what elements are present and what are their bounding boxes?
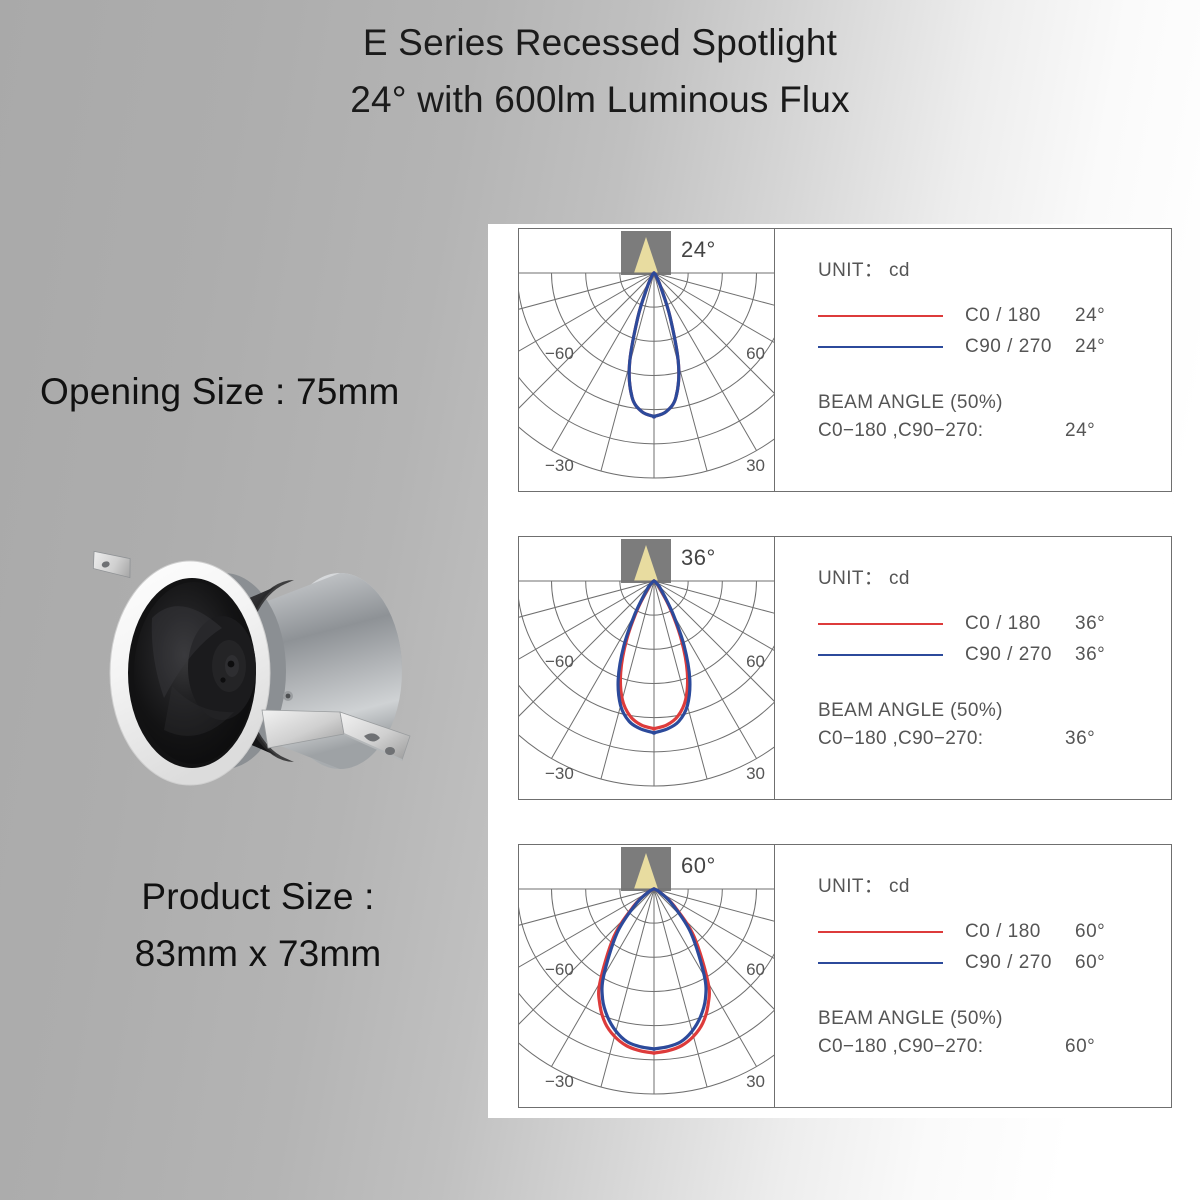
svg-text:−60: −60 bbox=[545, 960, 574, 979]
beam-angle-key: C0−180 ,C90−270: bbox=[818, 420, 1065, 442]
beam-angle-value: 36° bbox=[1065, 728, 1095, 750]
legend-row-c90: C90 / 270 24° bbox=[818, 331, 1161, 362]
legend-row-c0: C0 / 180 24° bbox=[818, 300, 1161, 331]
svg-text:60: 60 bbox=[746, 652, 765, 671]
c0-label: C0 / 180 bbox=[965, 921, 1075, 943]
beam-angle-title: BEAM ANGLE (50%) bbox=[818, 392, 1161, 414]
beam-angle-block: BEAM ANGLE (50%) C0−180 ,C90−270: 24° bbox=[818, 392, 1161, 442]
c0-line-swatch bbox=[818, 315, 943, 317]
legend-row-c0: C0 / 180 60° bbox=[818, 916, 1161, 947]
body-screw bbox=[283, 691, 293, 701]
c90-angle-value: 24° bbox=[1075, 336, 1105, 358]
polar-chart-cell: 60° −6060−3030 bbox=[519, 845, 774, 1107]
svg-text:−60: −60 bbox=[545, 652, 574, 671]
unit-label: UNIT： cd bbox=[818, 871, 1161, 898]
legend-row-c90: C90 / 270 36° bbox=[818, 639, 1161, 670]
legend-row-c0: C0 / 180 36° bbox=[818, 608, 1161, 639]
svg-text:−30: −30 bbox=[545, 1072, 574, 1091]
svg-text:30: 30 bbox=[746, 456, 765, 475]
svg-text:30: 30 bbox=[746, 1072, 765, 1091]
product-size-label: Product Size : 83mm x 73mm bbox=[88, 868, 428, 983]
title-line-1: E Series Recessed Spotlight bbox=[0, 14, 1200, 71]
c0-label: C0 / 180 bbox=[965, 613, 1075, 635]
unit-label: UNIT： cd bbox=[818, 563, 1161, 590]
c0-angle-value: 24° bbox=[1075, 305, 1105, 327]
legend-row-c90: C90 / 270 60° bbox=[818, 947, 1161, 978]
product-size-title: Product Size : bbox=[88, 868, 428, 925]
c0-angle-value: 36° bbox=[1075, 613, 1105, 635]
c0-line-swatch bbox=[818, 931, 943, 933]
polar-plot: −6060−3030 bbox=[519, 845, 774, 1107]
c90-line-swatch bbox=[818, 654, 943, 656]
beam-angle-title: BEAM ANGLE (50%) bbox=[818, 1008, 1161, 1030]
c90-angle-value: 60° bbox=[1075, 952, 1105, 974]
title-line-2: 24° with 600lm Luminous Flux bbox=[0, 71, 1200, 128]
c90-angle-value: 36° bbox=[1075, 644, 1105, 666]
unit-label: UNIT： cd bbox=[818, 255, 1161, 282]
spring-clip-rear bbox=[88, 541, 135, 587]
page-root: E Series Recessed Spotlight 24° with 600… bbox=[0, 0, 1200, 1200]
beam-angle-title: BEAM ANGLE (50%) bbox=[818, 700, 1161, 722]
beam-angle-value: 24° bbox=[1065, 420, 1095, 442]
photometric-panel: 36° −6060−3030 UNIT： cd C0 / 180 36° C90… bbox=[518, 536, 1172, 800]
opening-size-label: Opening Size : 75mm bbox=[40, 371, 400, 413]
photometric-panel: 24° −6060−3030 UNIT： cd C0 / 180 24° C90… bbox=[518, 228, 1172, 492]
polar-plot: −6060−3030 bbox=[519, 229, 774, 491]
polar-plot: −6060−3030 bbox=[519, 537, 774, 799]
polar-chart-cell: 36° −6060−3030 bbox=[519, 537, 774, 799]
svg-text:−30: −30 bbox=[545, 456, 574, 475]
c90-line-swatch bbox=[818, 962, 943, 964]
beam-angle-value: 60° bbox=[1065, 1036, 1095, 1058]
c90-label: C90 / 270 bbox=[965, 952, 1075, 974]
polar-chart-cell: 24° −6060−3030 bbox=[519, 229, 774, 491]
svg-text:30: 30 bbox=[746, 764, 765, 783]
c90-label: C90 / 270 bbox=[965, 336, 1075, 358]
photometric-panel: 60° −6060−3030 UNIT： cd C0 / 180 60° C90… bbox=[518, 844, 1172, 1108]
photometric-card: 24° −6060−3030 UNIT： cd C0 / 180 24° C90… bbox=[488, 224, 1172, 1118]
beam-angle-key: C0−180 ,C90−270: bbox=[818, 1036, 1065, 1058]
c90-label: C90 / 270 bbox=[965, 644, 1075, 666]
page-title: E Series Recessed Spotlight 24° with 600… bbox=[0, 14, 1200, 129]
svg-text:60: 60 bbox=[746, 344, 765, 363]
beam-angle-block: BEAM ANGLE (50%) C0−180 ,C90−270: 36° bbox=[818, 700, 1161, 750]
legend-cell: UNIT： cd C0 / 180 24° C90 / 270 24° BEAM… bbox=[774, 229, 1171, 491]
product-photo bbox=[72, 498, 432, 803]
svg-text:−30: −30 bbox=[545, 764, 574, 783]
product-size-value: 83mm x 73mm bbox=[88, 925, 428, 982]
c0-line-swatch bbox=[818, 623, 943, 625]
legend-cell: UNIT： cd C0 / 180 60° C90 / 270 60° BEAM… bbox=[774, 845, 1171, 1107]
beam-angle-key: C0−180 ,C90−270: bbox=[818, 728, 1065, 750]
svg-text:−60: −60 bbox=[545, 344, 574, 363]
c90-line-swatch bbox=[818, 346, 943, 348]
beam-angle-block: BEAM ANGLE (50%) C0−180 ,C90−270: 60° bbox=[818, 1008, 1161, 1058]
c0-label: C0 / 180 bbox=[965, 305, 1075, 327]
legend-cell: UNIT： cd C0 / 180 36° C90 / 270 36° BEAM… bbox=[774, 537, 1171, 799]
c0-angle-value: 60° bbox=[1075, 921, 1105, 943]
svg-text:60: 60 bbox=[746, 960, 765, 979]
